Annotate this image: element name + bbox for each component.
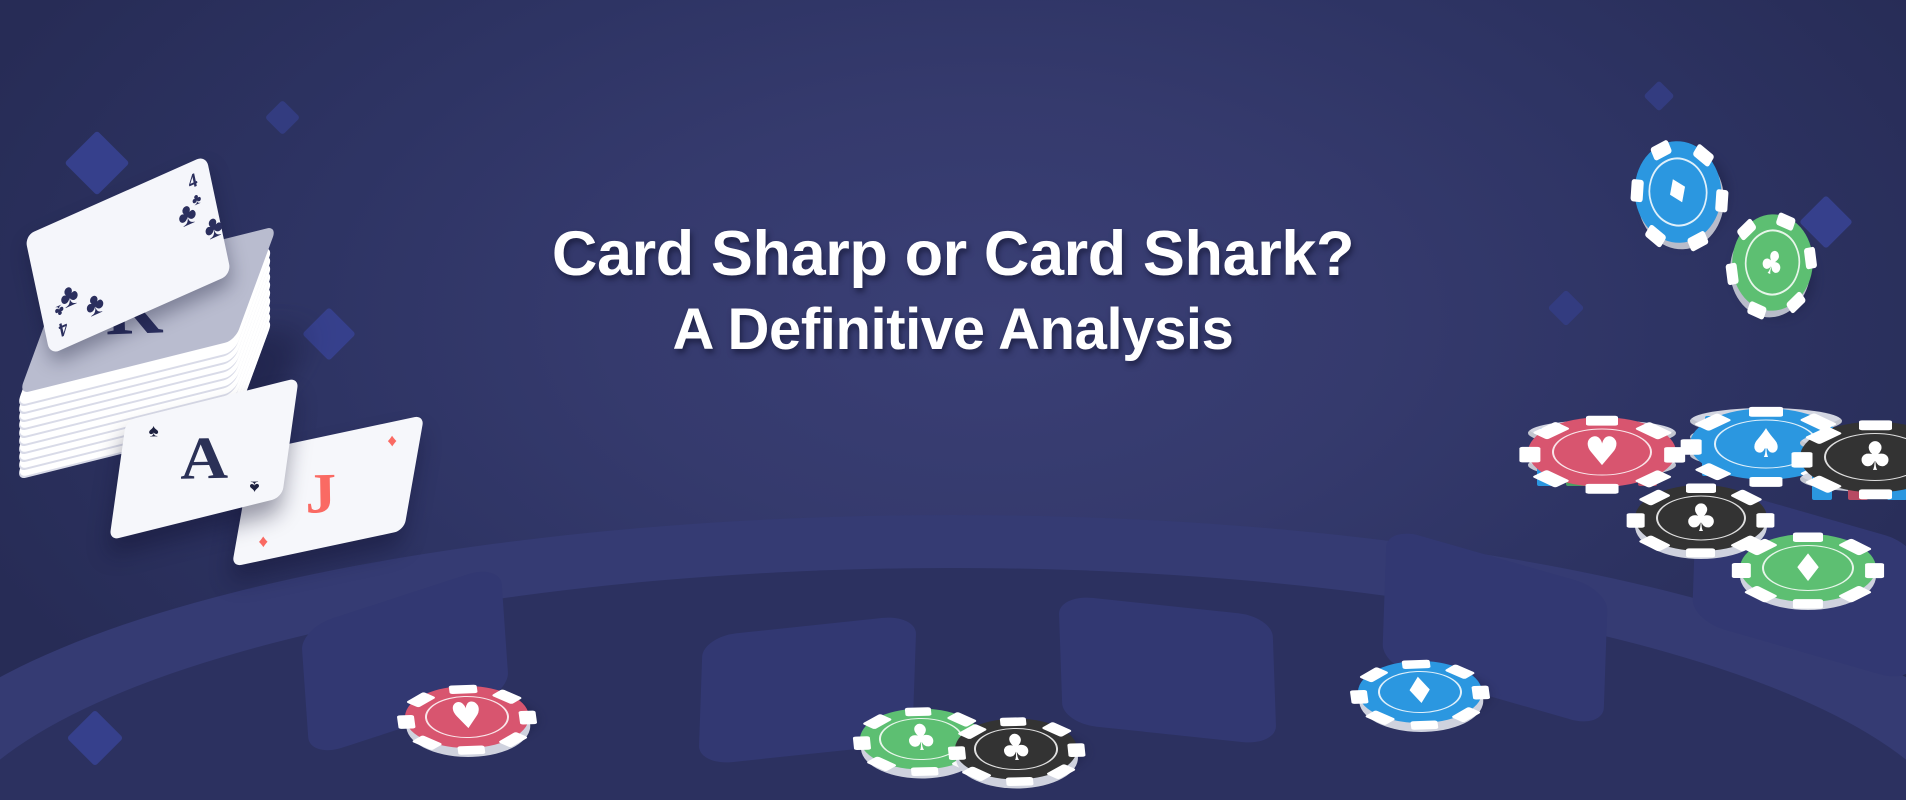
club-icon: ♣ [1684,499,1718,537]
club-icon: ♣ [903,721,939,758]
chip-pink-heart-stack: ♥ [1528,380,1676,490]
club-icon: ♣ [1857,437,1893,476]
diamond-icon: ♦ [1401,673,1438,710]
decor-diamond-7 [1643,80,1674,111]
decor-diamond-2 [265,100,300,135]
chip-green-diamond-front: ♦ [1740,534,1876,602]
betting-spot-3 [1058,594,1276,745]
chip-top-face: ♣ [1800,422,1906,493]
diamond-icon: ♦ [1791,549,1825,587]
chip-top-face: ♥ [1528,417,1676,487]
chip-pink-heart-table: ♥ [401,684,533,750]
club-icon-pip-2: ♣ [201,207,226,249]
decor-diamond-1 [64,130,129,195]
card-rank-ace: A [180,424,229,495]
poker-hero-banner: Card Sharp or Card Shark? A Definitive A… [0,0,1906,800]
club-icon-pip-4: ♣ [82,284,107,326]
heart-icon: ♥ [1584,432,1620,471]
club-icon: ♣ [1756,242,1789,283]
spade-icon-bottom: ♠ [249,476,259,496]
chip-blue-diamond-table: ♦ [1354,659,1486,725]
club-icon: ♣ [998,731,1034,768]
decor-diamond-5 [1548,290,1585,327]
decor-diamond-3 [302,307,356,361]
chip-black-club-stack: ♣ [1800,388,1906,498]
diamond-icon-bottom: ♦ [258,532,268,552]
spade-icon: ♠ [1748,424,1784,463]
heart-icon: ♥ [448,698,485,735]
card-rank-jack: J [305,462,337,528]
diamond-icon: ♦ [1660,170,1697,214]
diamond-icon-top: ♦ [387,431,397,451]
chip-black-club-table: ♣ [952,717,1080,781]
chip-blue-diamond-falling: ♦ [1620,125,1736,259]
hero-title-line-1: Card Sharp or Card Shark? [0,216,1906,292]
spade-icon-top: ♠ [148,422,158,442]
